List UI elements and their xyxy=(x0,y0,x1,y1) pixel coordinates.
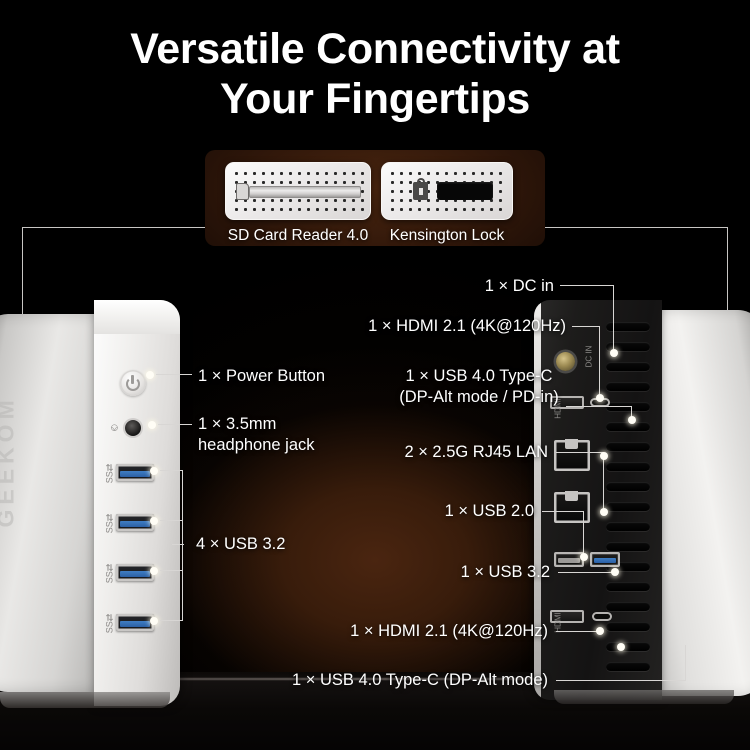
leader-dot-headphone-jack xyxy=(148,421,156,429)
usb-a-port-1[interactable] xyxy=(116,464,154,481)
kensington-slot-icon xyxy=(437,182,493,200)
leader-dot-rj45-2 xyxy=(600,508,608,516)
leader-line-usb-3-2-rear xyxy=(558,572,614,573)
feature-panel: SD Card Reader 4.0 Kensington Lock xyxy=(205,150,545,246)
leader-dot-rj45-1 xyxy=(600,452,608,460)
leader-dot-hdmi-bottom xyxy=(596,627,604,635)
label-usb4-typec-top: 1 × USB 4.0 Type-C (DP-Alt mode / PD-in) xyxy=(376,366,582,408)
leader-drop-dc-in xyxy=(613,285,614,353)
leader-dot-usb-2 xyxy=(150,517,158,525)
title-line-1: Versatile Connectivity at xyxy=(130,25,620,73)
usb4-typec-port-bottom[interactable] xyxy=(592,612,612,621)
usb-a-port-3[interactable] xyxy=(116,564,154,581)
left-device-front-face: ⎉ SS⇄ SS⇄ SS⇄ SS⇄ xyxy=(94,300,180,706)
power-button-icon[interactable] xyxy=(120,370,146,396)
leader-dot-power-button xyxy=(146,371,154,379)
left-device-base xyxy=(0,692,170,708)
label-headphone-jack: 1 × 3.5mm headphone jack xyxy=(198,414,315,456)
leader-dot-usb-2-0 xyxy=(580,553,588,561)
rear-io-panel: DC IN HDMI HDMI xyxy=(534,300,662,700)
ss-marking-icon: SS⇄ xyxy=(104,514,115,534)
left-device-side-panel: GEEKOM xyxy=(0,314,104,692)
leader-dot-usb-3-2-rear xyxy=(611,568,619,576)
leader-line-power-button xyxy=(156,374,192,375)
leader-line-usb-2 xyxy=(160,520,182,521)
label-usb-2-0: 1 × USB 2.0 xyxy=(445,501,534,522)
leader-drop-hdmi-top xyxy=(599,326,600,398)
label-typec-top-line-1: 1 × USB 4.0 Type-C xyxy=(406,367,553,385)
label-headphone-line-1: 1 × 3.5mm xyxy=(198,415,276,433)
label-hdmi-top: 1 × HDMI 2.1 (4K@120Hz) xyxy=(368,316,566,337)
label-hdmi-bottom: 1 × HDMI 2.1 (4K@120Hz) xyxy=(350,621,548,642)
leader-line-usb-2-0 xyxy=(542,511,584,512)
leader-bracket-rj45 xyxy=(603,452,604,514)
leader-dot-usb-3 xyxy=(150,567,158,575)
leader-dot-typec-top xyxy=(628,416,636,424)
label-rj45-lan: 2 × 2.5G RJ45 LAN xyxy=(404,442,548,463)
brand-logo: GEEKOM xyxy=(0,428,20,528)
dc-in-marking-icon: DC IN xyxy=(584,346,593,368)
top-sheen xyxy=(94,300,180,334)
page-title: Versatile Connectivity at Your Fingertip… xyxy=(0,24,750,125)
leader-line-headphone-jack xyxy=(158,424,192,425)
feature-caption-kensington: Kensington Lock xyxy=(381,227,513,245)
sd-card-icon xyxy=(236,183,249,200)
label-usb-3-2-front: 4 × USB 3.2 xyxy=(196,534,285,555)
headphone-symbol-icon: ⎉ xyxy=(110,422,119,435)
ventilation-grille xyxy=(606,322,656,680)
label-power-button: 1 × Power Button xyxy=(198,366,325,387)
hdmi-marking-icon: HDMI xyxy=(554,612,563,632)
sd-card-slot-icon xyxy=(249,186,361,198)
left-device-front: GEEKOM ⎉ SS⇄ SS⇄ SS⇄ SS⇄ xyxy=(0,300,196,700)
rj45-lan-port-2[interactable] xyxy=(554,492,590,523)
leader-drop-typec-bottom xyxy=(685,645,686,681)
kensington-lock-image xyxy=(381,162,513,220)
feature-sd-card-reader: SD Card Reader 4.0 xyxy=(225,162,371,245)
padlock-icon xyxy=(413,182,428,200)
leader-line-usb-1 xyxy=(160,470,182,471)
leader-line-typec-bottom xyxy=(556,680,686,681)
headphone-jack-port[interactable] xyxy=(125,420,141,436)
leader-line-rj45 xyxy=(556,452,604,453)
ss-marking-icon: SS⇄ xyxy=(104,614,115,634)
leader-drop-usb-2-0 xyxy=(583,511,584,557)
label-headphone-line-2: headphone jack xyxy=(198,436,315,454)
leader-dot-usb-4 xyxy=(150,617,158,625)
leader-line-usb-4 xyxy=(160,620,182,621)
rj45-lan-port-1[interactable] xyxy=(554,440,590,471)
title-line-2: Your Fingertips xyxy=(0,74,750,124)
leader-dot-typec-bottom xyxy=(617,643,625,651)
leader-line-hdmi-bottom xyxy=(556,631,600,632)
label-typec-top-line-2: (DP-Alt mode / PD-in) xyxy=(399,388,559,406)
leader-line-usb-group xyxy=(172,544,184,545)
label-usb4-typec-bottom: 1 × USB 4.0 Type-C (DP-Alt mode) xyxy=(292,670,548,691)
feature-caption-sd: SD Card Reader 4.0 xyxy=(225,227,371,245)
right-device-base xyxy=(554,690,734,704)
usb-3-2-port-rear[interactable] xyxy=(590,552,620,567)
label-dc-in: 1 × DC in xyxy=(485,276,554,297)
leader-line-dc-in xyxy=(560,285,614,286)
ss-marking-icon: SS⇄ xyxy=(104,564,115,584)
leader-dot-hdmi-top xyxy=(596,394,604,402)
leader-line-hdmi-top xyxy=(572,326,600,327)
feature-kensington-lock: Kensington Lock xyxy=(381,162,513,245)
leader-dot-dc-in xyxy=(610,349,618,357)
infographic-canvas: Versatile Connectivity at Your Fingertip… xyxy=(0,0,750,750)
ss-marking-icon: SS⇄ xyxy=(104,464,115,484)
label-usb-3-2-rear: 1 × USB 3.2 xyxy=(461,562,550,583)
usb-a-port-4[interactable] xyxy=(116,614,154,631)
leader-bracket-usb-group xyxy=(182,470,183,621)
usb-a-port-2[interactable] xyxy=(116,514,154,531)
leader-dot-usb-1 xyxy=(150,467,158,475)
sd-card-reader-image xyxy=(225,162,371,220)
right-device-rear: DC IN HDMI HDMI xyxy=(534,300,750,700)
leader-line-usb-3 xyxy=(160,570,182,571)
